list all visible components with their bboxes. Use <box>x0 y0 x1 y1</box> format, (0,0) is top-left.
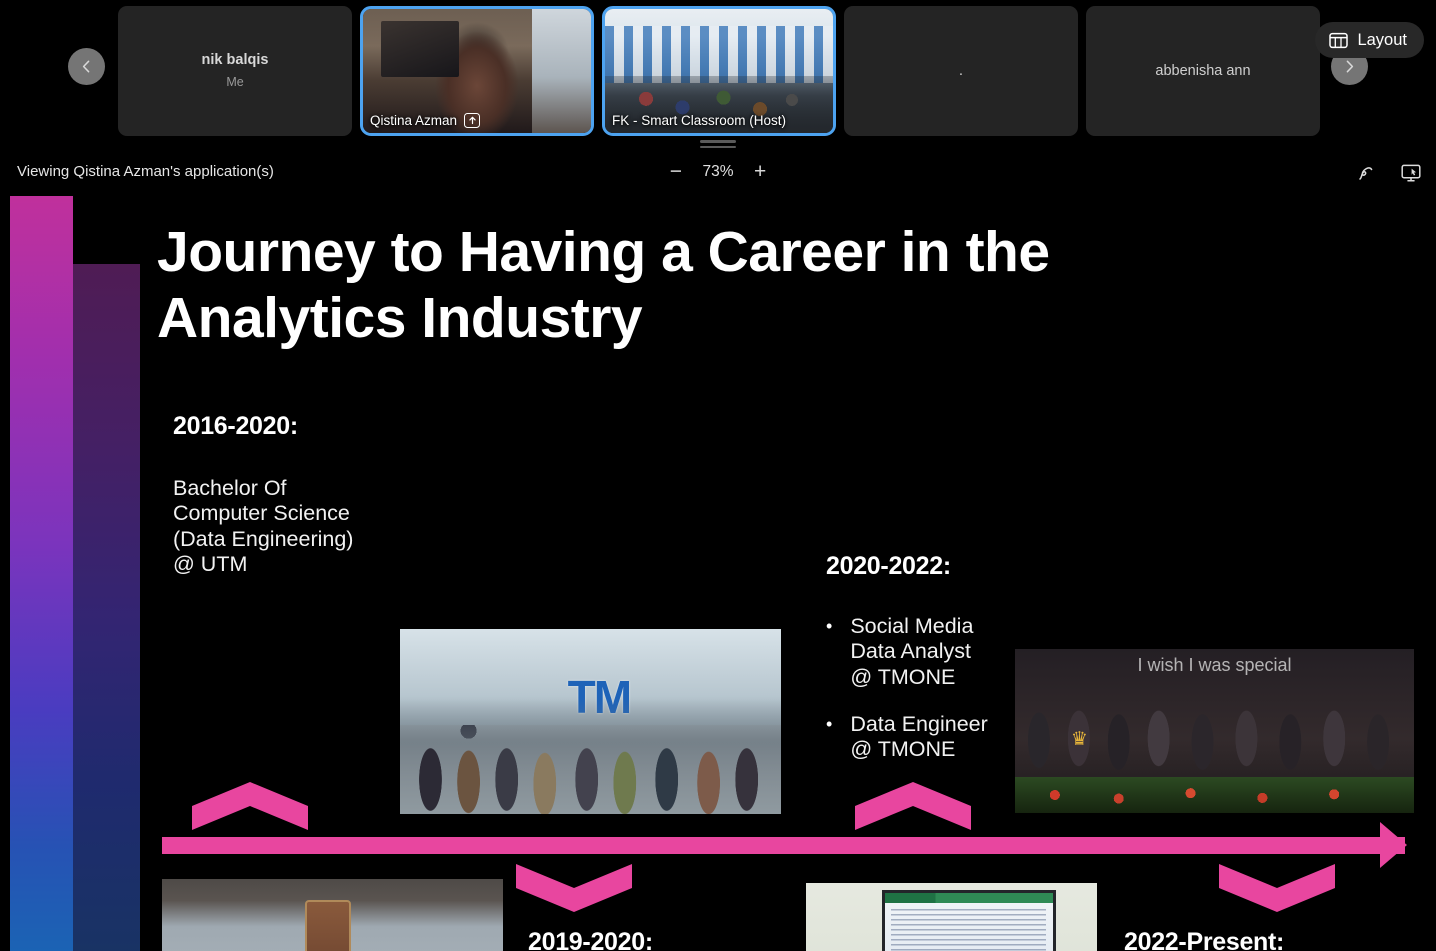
block-heading-2020-2022: 2020-2022: <box>826 552 951 581</box>
participant-name: . <box>959 68 963 74</box>
participant-tile-qistina-azman[interactable]: Qistina Azman <box>360 6 594 136</box>
participant-tile-nik-balqis[interactable]: nik balqis Me <box>118 6 352 136</box>
bullet-item: • Data Engineer @ TMONE <box>826 712 1026 763</box>
handle-line <box>700 146 736 149</box>
block-body-2016-2020: Bachelor Of Computer Science (Data Engin… <box>173 476 403 577</box>
participant-name: Qistina Azman <box>370 113 457 128</box>
timeline-arrow-head <box>1380 822 1407 868</box>
annotate-pen-icon[interactable] <box>1356 162 1378 184</box>
monitor-screen <box>882 890 1057 951</box>
bullet-marker: • <box>826 712 832 763</box>
timeline-arrow-shaft <box>162 837 1405 854</box>
participant-tile-label: Qistina Azman <box>370 113 480 128</box>
bullet-text: Social Media Data Analyst @ TMONE <box>850 614 973 690</box>
block-heading-2016-2020: 2016-2020: <box>173 412 298 441</box>
participant-filmstrip: nik balqis Me Qistina Azman FK - Smart C… <box>0 0 1436 148</box>
slide-title: Journey to Having a Career in the Analyt… <box>157 220 1297 351</box>
timeline-chevron-down-2 <box>1219 856 1335 918</box>
block-heading-2019-2020: 2019-2020: <box>528 928 653 951</box>
chevron-left-icon <box>79 59 94 74</box>
screen-share-icon <box>464 113 480 128</box>
timeline-chevron-up-2 <box>855 782 971 844</box>
layout-icon <box>1329 32 1348 49</box>
participant-tile-label: FK - Smart Classroom (Host) <box>612 113 786 128</box>
participant-name: FK - Smart Classroom (Host) <box>612 113 786 128</box>
spreadsheet-rows <box>891 909 1046 951</box>
zoom-level-value: 73% <box>698 163 738 181</box>
participant-name: abbenisha ann <box>1086 61 1320 81</box>
bullet-marker: • <box>826 614 832 690</box>
zoom-out-button[interactable]: − <box>670 161 682 182</box>
photo-workstation <box>806 883 1097 951</box>
zoom-in-button[interactable]: + <box>754 161 766 182</box>
karaoke-crown-icon: ♛ <box>1071 728 1088 751</box>
participant-subtitle: Me <box>118 72 352 92</box>
participant-tile-abbenisha-ann[interactable]: abbenisha ann <box>1086 6 1320 136</box>
tm-one-logo: TM <box>568 670 630 724</box>
decorative-gradient-bar-back <box>73 264 140 951</box>
photo-caption-overlay: I wish I was special <box>1015 655 1414 676</box>
handle-line <box>700 140 736 143</box>
layout-button[interactable]: Layout <box>1315 22 1424 58</box>
share-toolbar: Viewing Qistina Azman's application(s) −… <box>0 150 1436 196</box>
participant-name: nik balqis <box>118 50 352 70</box>
photo-graduation-group <box>162 879 503 951</box>
photo-karaoke-group: I wish I was special ♛ <box>1015 649 1414 813</box>
participant-name-block: nik balqis Me <box>118 50 352 92</box>
timeline-chevron-down-1 <box>516 856 632 918</box>
decorative-gradient-bar-front <box>10 196 73 951</box>
layout-button-label: Layout <box>1357 31 1407 50</box>
block-bullets-2020-2022: • Social Media Data Analyst @ TMONE • Da… <box>826 614 1026 785</box>
filmstrip-prev-button[interactable] <box>68 48 105 85</box>
shared-slide-content: Journey to Having a Career in the Analyt… <box>0 196 1436 951</box>
chevron-right-icon <box>1342 59 1357 74</box>
utm-emblem <box>305 900 351 951</box>
viewing-status-text: Viewing Qistina Azman's application(s) <box>17 163 274 180</box>
bullet-text: Data Engineer @ TMONE <box>850 712 987 763</box>
toolbar-icon-group <box>1356 162 1422 184</box>
zoom-controls: − 73% + <box>670 161 767 182</box>
filmstrip-resize-handle[interactable] <box>700 140 736 149</box>
participant-name-block: abbenisha ann <box>1086 61 1320 81</box>
block-heading-2022-present: 2022-Present: <box>1124 928 1284 951</box>
spreadsheet-toolbar <box>885 893 1054 904</box>
timeline-chevron-up-1 <box>192 782 308 844</box>
remote-control-icon[interactable] <box>1400 162 1422 184</box>
arrow-up-glyph <box>468 116 477 125</box>
participant-tile-fk-smart-classroom[interactable]: FK - Smart Classroom (Host) <box>602 6 836 136</box>
bullet-item: • Social Media Data Analyst @ TMONE <box>826 614 1026 690</box>
participant-tile-unnamed[interactable]: . <box>844 6 1078 136</box>
photo-tmone-group: TM <box>400 629 781 814</box>
